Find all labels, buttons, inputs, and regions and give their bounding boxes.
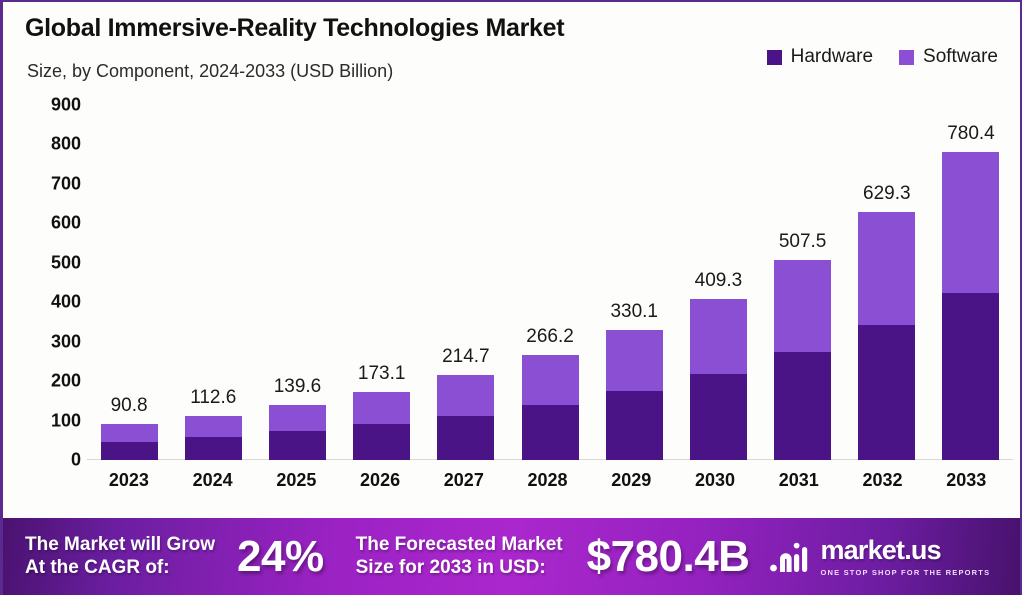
bar-value-label: 780.4: [947, 123, 995, 145]
bar-stack[interactable]: 507.5: [774, 260, 831, 460]
x-axis-tick-label: 2025: [254, 470, 338, 502]
bar-value-label: 112.6: [190, 387, 236, 409]
bar-group-2029[interactable]: 330.1: [592, 97, 676, 460]
bar-segment-software[interactable]: [690, 299, 747, 375]
market-us-logo-icon: [769, 541, 811, 573]
bar-segment-hardware[interactable]: [185, 437, 242, 460]
bar-segment-hardware[interactable]: [353, 424, 410, 460]
legend-swatch-icon: [767, 50, 782, 65]
forecast-size-caption-line1: The Forecasted Market: [356, 534, 563, 555]
bar-segment-software[interactable]: [774, 260, 831, 353]
bar-stack[interactable]: 139.6: [269, 405, 326, 460]
brand-name: market.us: [820, 537, 990, 564]
bar-group-2027[interactable]: 214.7: [424, 97, 508, 460]
legend-swatch-icon: [899, 50, 914, 65]
bar-segment-software[interactable]: [522, 355, 579, 405]
x-axis-tick-label: 2028: [506, 470, 590, 502]
infographic-page: Global Immersive-Reality Technologies Ma…: [0, 0, 1022, 595]
cagr-value: 24%: [237, 532, 324, 582]
bar-segment-hardware[interactable]: [437, 416, 494, 460]
x-axis-tick-label: 2029: [589, 470, 673, 502]
bar-segment-hardware[interactable]: [942, 293, 999, 460]
bar-series-container: 90.8112.6139.6173.1214.7266.2330.1409.35…: [87, 97, 1013, 460]
brand-wordmark: market.us ONE STOP SHOP FOR THE REPORTS: [820, 537, 990, 577]
x-axis-tick-label: 2031: [757, 470, 841, 502]
bar-value-label: 173.1: [358, 363, 406, 385]
x-axis-tick-label: 2033: [924, 470, 1008, 502]
y-axis-tick-label: 400: [11, 292, 81, 313]
bar-segment-software[interactable]: [353, 392, 410, 424]
bar-segment-software[interactable]: [606, 330, 663, 391]
bar-group-2031[interactable]: 507.5: [761, 97, 845, 460]
chart-legend: HardwareSoftware: [767, 46, 998, 68]
bar-value-label: 330.1: [610, 301, 658, 323]
legend-item-label: Software: [923, 46, 998, 68]
bar-segment-hardware[interactable]: [606, 391, 663, 460]
bar-segment-software[interactable]: [185, 416, 242, 437]
bar-segment-hardware[interactable]: [269, 431, 326, 460]
y-axis-tick-label: 500: [11, 252, 81, 273]
x-axis-tick-label: 2023: [87, 470, 171, 502]
y-axis-tick-label: 800: [11, 134, 81, 155]
forecast-size-caption-line2: Size for 2033 in USD:: [356, 557, 546, 578]
bar-stack[interactable]: 214.7: [437, 375, 494, 460]
y-axis-tick-label: 100: [11, 410, 81, 431]
bar-value-label: 629.3: [863, 183, 911, 205]
bar-value-label: 507.5: [779, 231, 827, 253]
x-axis-tick-label: 2030: [673, 470, 757, 502]
legend-item-hardware[interactable]: Hardware: [767, 46, 873, 68]
bar-stack[interactable]: 629.3: [858, 212, 915, 460]
bar-group-2030[interactable]: 409.3: [676, 97, 760, 460]
y-axis: 0100200300400500600700800900: [3, 97, 81, 467]
bar-stack[interactable]: 173.1: [353, 392, 410, 460]
bar-segment-software[interactable]: [269, 405, 326, 431]
brand-tagline: ONE STOP SHOP FOR THE REPORTS: [820, 568, 990, 577]
x-axis: 2023202420252026202720282029203020312032…: [87, 470, 1008, 502]
bar-stack[interactable]: 780.4: [942, 152, 999, 460]
bar-segment-software[interactable]: [942, 152, 999, 292]
page-title: Global Immersive-Reality Technologies Ma…: [25, 14, 564, 43]
bar-value-label: 266.2: [526, 326, 574, 348]
y-axis-tick-label: 700: [11, 173, 81, 194]
bar-value-label: 409.3: [695, 270, 743, 292]
bar-segment-software[interactable]: [437, 375, 494, 415]
bar-group-2033[interactable]: 780.4: [929, 97, 1013, 460]
bar-segment-hardware[interactable]: [858, 325, 915, 460]
bar-segment-hardware[interactable]: [522, 405, 579, 460]
bar-segment-software[interactable]: [858, 212, 915, 326]
bar-segment-hardware[interactable]: [690, 374, 747, 460]
y-axis-tick-label: 300: [11, 331, 81, 352]
bar-stack[interactable]: 266.2: [522, 355, 579, 460]
x-axis-tick-label: 2024: [171, 470, 255, 502]
cagr-caption-line2: At the CAGR of:: [25, 557, 170, 578]
forecast-size-caption: The Forecasted Market Size for 2033 in U…: [356, 534, 563, 579]
bar-stack[interactable]: 90.8: [101, 424, 158, 460]
y-axis-tick-label: 0: [11, 450, 81, 471]
x-axis-tick-label: 2027: [422, 470, 506, 502]
bar-group-2026[interactable]: 173.1: [340, 97, 424, 460]
chart-plot-area: 0100200300400500600700800900 90.8112.613…: [3, 97, 1022, 467]
bar-segment-hardware[interactable]: [101, 442, 158, 460]
cagr-caption-line1: The Market will Grow: [25, 534, 215, 555]
bar-value-label: 90.8: [111, 395, 148, 417]
bar-value-label: 139.6: [274, 376, 322, 398]
bar-group-2023[interactable]: 90.8: [87, 97, 171, 460]
x-axis-tick-label: 2026: [338, 470, 422, 502]
x-axis-tick-label: 2032: [841, 470, 925, 502]
bar-segment-software[interactable]: [101, 424, 158, 442]
summary-banner: The Market will Grow At the CAGR of: 24%…: [3, 518, 1020, 595]
y-axis-tick-label: 200: [11, 371, 81, 392]
y-axis-tick-label: 600: [11, 213, 81, 234]
bar-value-label: 214.7: [442, 346, 490, 368]
chart-subtitle: Size, by Component, 2024-2033 (USD Billi…: [27, 61, 393, 82]
bar-group-2032[interactable]: 629.3: [845, 97, 929, 460]
bar-stack[interactable]: 112.6: [185, 416, 242, 460]
forecast-size-value: $780.4B: [587, 532, 750, 582]
y-axis-tick-label: 900: [11, 95, 81, 116]
bar-stack[interactable]: 409.3: [690, 299, 747, 460]
brand-logo: market.us ONE STOP SHOP FOR THE REPORTS: [769, 537, 990, 577]
legend-item-label: Hardware: [791, 46, 873, 68]
bar-group-2024[interactable]: 112.6: [171, 97, 255, 460]
bar-group-2028[interactable]: 266.2: [508, 97, 592, 460]
bar-group-2025[interactable]: 139.6: [255, 97, 339, 460]
legend-item-software[interactable]: Software: [899, 46, 998, 68]
cagr-caption: The Market will Grow At the CAGR of:: [25, 534, 215, 579]
bar-segment-hardware[interactable]: [774, 352, 831, 460]
bar-stack[interactable]: 330.1: [606, 330, 663, 460]
